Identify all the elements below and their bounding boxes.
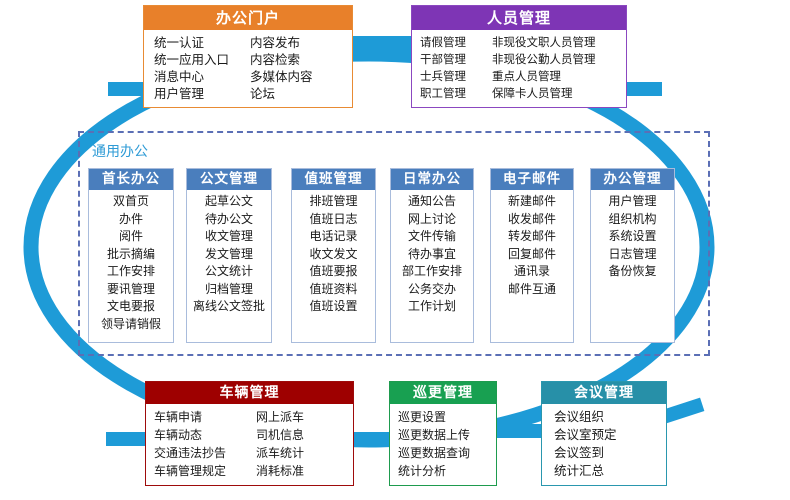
list-item[interactable]: 回复邮件 [491, 246, 573, 264]
list-item[interactable]: 统计分析 [398, 462, 496, 480]
list-item[interactable]: 收发邮件 [491, 211, 573, 229]
list-item[interactable]: 内容发布 [250, 34, 352, 51]
list-item[interactable]: 多媒体内容 [250, 68, 352, 85]
list-item[interactable]: 要讯管理 [89, 281, 173, 299]
connector-meeting-right [662, 398, 704, 424]
list-item[interactable]: 交通违法抄告 [154, 444, 256, 462]
card-office-portal-title: 办公门户 [144, 6, 352, 30]
list-item[interactable]: 统计汇总 [554, 462, 666, 480]
list-item[interactable]: 统一应用入口 [154, 51, 250, 68]
list-item[interactable]: 非现役文职人员管理 [492, 34, 626, 51]
list-item[interactable]: 值班资料 [292, 281, 375, 299]
list-item[interactable]: 转发邮件 [491, 228, 573, 246]
list-item[interactable]: 公文统计 [187, 263, 271, 281]
connector-vehicle-left [106, 432, 150, 446]
list-item[interactable]: 请假管理 [420, 34, 492, 51]
subcolumn-daily-office[interactable]: 日常办公 通知公告 网上讨论 文件传输 待办事宜 部工作安排 公务交办 工作计划 [390, 168, 474, 343]
list-item[interactable]: 车辆管理规定 [154, 462, 256, 480]
list-item[interactable]: 网上讨论 [391, 211, 473, 229]
list-item[interactable]: 职工管理 [420, 85, 492, 102]
list-item[interactable]: 重点人员管理 [492, 68, 626, 85]
card-meeting-management[interactable]: 会议管理 会议组织 会议室预定 会议签到 统计汇总 [541, 381, 667, 486]
list-item[interactable]: 工作安排 [89, 263, 173, 281]
subcolumn-office-admin-items: 用户管理 组织机构 系统设置 日志管理 备份恢复 [591, 190, 674, 281]
list-item[interactable]: 司机信息 [256, 426, 353, 444]
card-vehicle-management-body: 车辆申请 车辆动态 交通违法抄告 车辆管理规定 网上派车 司机信息 派车统计 消… [146, 404, 353, 480]
list-item[interactable]: 待办事宜 [391, 246, 473, 264]
subcolumn-daily-office-title: 日常办公 [391, 169, 473, 190]
diagram-canvas: 通用办公 办公门户 统一认证 统一应用入口 消息中心 用户管理 内容发布 内容检… [0, 0, 790, 500]
subcolumn-email[interactable]: 电子邮件 新建邮件 收发邮件 转发邮件 回复邮件 通讯录 邮件互通 [490, 168, 574, 343]
list-item[interactable]: 收文发文 [292, 246, 375, 264]
card-office-portal[interactable]: 办公门户 统一认证 统一应用入口 消息中心 用户管理 内容发布 内容检索 多媒体… [143, 5, 353, 108]
list-item[interactable]: 工作计划 [391, 298, 473, 316]
list-item[interactable]: 领导请销假 [89, 316, 173, 334]
list-item[interactable]: 通知公告 [391, 193, 473, 211]
subcolumn-email-items: 新建邮件 收发邮件 转发邮件 回复邮件 通讯录 邮件互通 [491, 190, 573, 298]
list-item[interactable]: 巡更数据上传 [398, 426, 496, 444]
list-item[interactable]: 车辆动态 [154, 426, 256, 444]
subcolumn-office-admin[interactable]: 办公管理 用户管理 组织机构 系统设置 日志管理 备份恢复 [590, 168, 675, 343]
list-item[interactable]: 车辆申请 [154, 408, 256, 426]
list-item[interactable]: 通讯录 [491, 263, 573, 281]
list-item[interactable]: 邮件互通 [491, 281, 573, 299]
list-item[interactable]: 派车统计 [256, 444, 353, 462]
list-item[interactable]: 待办公文 [187, 211, 271, 229]
card-vehicle-management-title: 车辆管理 [146, 382, 353, 404]
card-office-portal-column-1: 统一认证 统一应用入口 消息中心 用户管理 [154, 34, 250, 102]
list-item[interactable]: 离线公文签批 [187, 298, 271, 316]
subcolumn-email-title: 电子邮件 [491, 169, 573, 190]
list-item[interactable]: 批示摘编 [89, 246, 173, 264]
list-item[interactable]: 双首页 [89, 193, 173, 211]
card-meeting-management-body: 会议组织 会议室预定 会议签到 统计汇总 [542, 404, 666, 480]
list-item[interactable]: 值班设置 [292, 298, 375, 316]
list-item[interactable]: 收文管理 [187, 228, 271, 246]
list-item[interactable]: 消耗标准 [256, 462, 353, 480]
list-item[interactable]: 消息中心 [154, 68, 250, 85]
subcolumn-duty-management-items: 排班管理 值班日志 电话记录 收文发文 值班要报 值班资料 值班设置 [292, 190, 375, 316]
list-item[interactable]: 发文管理 [187, 246, 271, 264]
card-vehicle-management-column-2: 网上派车 司机信息 派车统计 消耗标准 [256, 408, 353, 480]
list-item[interactable]: 组织机构 [591, 211, 674, 229]
list-item[interactable]: 巡更设置 [398, 408, 496, 426]
subcolumn-duty-management[interactable]: 值班管理 排班管理 值班日志 电话记录 收文发文 值班要报 值班资料 值班设置 [291, 168, 376, 343]
card-personnel-management-column-1: 请假管理 干部管理 士兵管理 职工管理 [420, 34, 492, 102]
subcolumn-duty-management-title: 值班管理 [292, 169, 375, 190]
subcolumn-office-admin-title: 办公管理 [591, 169, 674, 190]
list-item[interactable]: 值班日志 [292, 211, 375, 229]
list-item[interactable]: 值班要报 [292, 263, 375, 281]
subcolumn-document-management-items: 起草公文 待办公文 收文管理 发文管理 公文统计 归档管理 离线公文签批 [187, 190, 271, 316]
connector-top [347, 36, 417, 50]
subcolumn-document-management-title: 公文管理 [187, 169, 271, 190]
card-patrol-management-body: 巡更设置 巡更数据上传 巡更数据查询 统计分析 [390, 404, 496, 480]
list-item[interactable]: 用户管理 [154, 85, 250, 102]
list-item[interactable]: 网上派车 [256, 408, 353, 426]
card-office-portal-column-2: 内容发布 内容检索 多媒体内容 论坛 [250, 34, 352, 102]
list-item[interactable]: 系统设置 [591, 228, 674, 246]
connector-portal-left [108, 82, 148, 96]
subcolumn-daily-office-items: 通知公告 网上讨论 文件传输 待办事宜 部工作安排 公务交办 工作计划 [391, 190, 473, 316]
card-personnel-management-title: 人员管理 [412, 6, 626, 30]
card-office-portal-body: 统一认证 统一应用入口 消息中心 用户管理 内容发布 内容检索 多媒体内容 论坛 [144, 30, 352, 102]
card-vehicle-management[interactable]: 车辆管理 车辆申请 车辆动态 交通违法抄告 车辆管理规定 网上派车 司机信息 派… [145, 381, 354, 486]
list-item[interactable]: 会议组织 [554, 408, 666, 426]
list-item[interactable]: 部工作安排 [391, 263, 473, 281]
card-patrol-management-title: 巡更管理 [390, 382, 496, 404]
list-item[interactable]: 排班管理 [292, 193, 375, 211]
card-meeting-management-title: 会议管理 [542, 382, 666, 404]
card-vehicle-management-column-1: 车辆申请 车辆动态 交通违法抄告 车辆管理规定 [154, 408, 256, 480]
list-item[interactable]: 归档管理 [187, 281, 271, 299]
list-item[interactable]: 新建邮件 [491, 193, 573, 211]
list-item[interactable]: 士兵管理 [420, 68, 492, 85]
list-item[interactable]: 文电要报 [89, 298, 173, 316]
card-personnel-management-column-2: 非现役文职人员管理 非现役公勤人员管理 重点人员管理 保障卡人员管理 [492, 34, 626, 102]
list-item[interactable]: 内容检索 [250, 51, 352, 68]
list-item[interactable]: 统一认证 [154, 34, 250, 51]
list-item[interactable]: 论坛 [250, 85, 352, 102]
list-item[interactable]: 起草公文 [187, 193, 271, 211]
card-personnel-management-body: 请假管理 干部管理 士兵管理 职工管理 非现役文职人员管理 非现役公勤人员管理 … [412, 30, 626, 102]
connector-patrol-meeting [492, 424, 546, 438]
card-patrol-management[interactable]: 巡更管理 巡更设置 巡更数据上传 巡更数据查询 统计分析 [389, 381, 497, 486]
subcolumn-chief-office-items: 双首页 办件 阅件 批示摘编 工作安排 要讯管理 文电要报 领导请销假 [89, 190, 173, 333]
list-item[interactable]: 巡更数据查询 [398, 444, 496, 462]
list-item[interactable]: 电话记录 [292, 228, 375, 246]
list-item[interactable]: 备份恢复 [591, 263, 674, 281]
list-item[interactable]: 用户管理 [591, 193, 674, 211]
list-item[interactable]: 会议签到 [554, 444, 666, 462]
list-item[interactable]: 文件传输 [391, 228, 473, 246]
list-item[interactable]: 日志管理 [591, 246, 674, 264]
list-item[interactable]: 阅件 [89, 228, 173, 246]
list-item[interactable]: 非现役公勤人员管理 [492, 51, 626, 68]
list-item[interactable]: 保障卡人员管理 [492, 85, 626, 102]
list-item[interactable]: 干部管理 [420, 51, 492, 68]
subcolumn-document-management[interactable]: 公文管理 起草公文 待办公文 收文管理 发文管理 公文统计 归档管理 离线公文签… [186, 168, 272, 343]
list-item[interactable]: 办件 [89, 211, 173, 229]
list-item[interactable]: 会议室预定 [554, 426, 666, 444]
subcolumn-chief-office[interactable]: 首长办公 双首页 办件 阅件 批示摘编 工作安排 要讯管理 文电要报 领导请销假 [88, 168, 174, 343]
subcolumn-chief-office-title: 首长办公 [89, 169, 173, 190]
connector-vehicle-patrol [350, 432, 394, 446]
card-personnel-management[interactable]: 人员管理 请假管理 干部管理 士兵管理 职工管理 非现役文职人员管理 非现役公勤… [411, 5, 627, 108]
list-item[interactable]: 公务交办 [391, 281, 473, 299]
general-office-label: 通用办公 [92, 141, 148, 161]
